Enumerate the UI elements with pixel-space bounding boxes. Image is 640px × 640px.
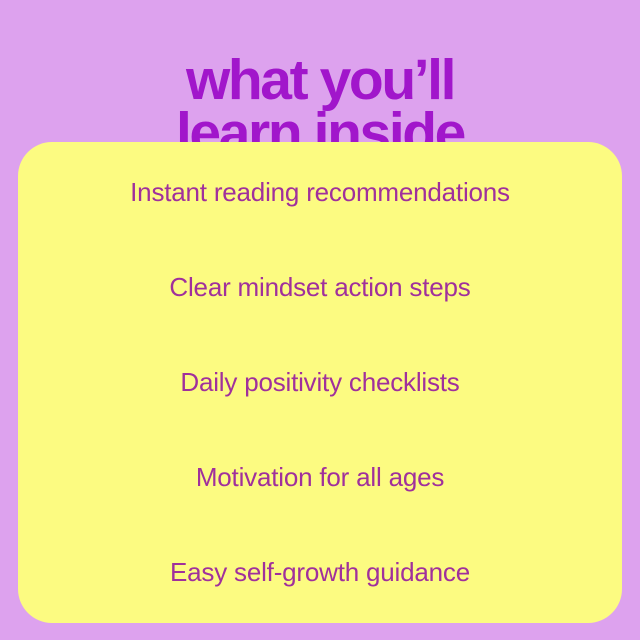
promo-poster: what you’ll learn inside Instant reading…	[0, 0, 640, 640]
list-item: Easy self-growth guidance	[42, 557, 598, 588]
list-item: Motivation for all ages	[42, 462, 598, 493]
list-item: Daily positivity checklists	[42, 367, 598, 398]
list-item: Instant reading recommendations	[42, 177, 598, 208]
page-title-line-1: what you’ll	[0, 54, 640, 106]
feature-list-card: Instant reading recommendations Clear mi…	[18, 142, 622, 623]
list-item: Clear mindset action steps	[42, 272, 598, 303]
